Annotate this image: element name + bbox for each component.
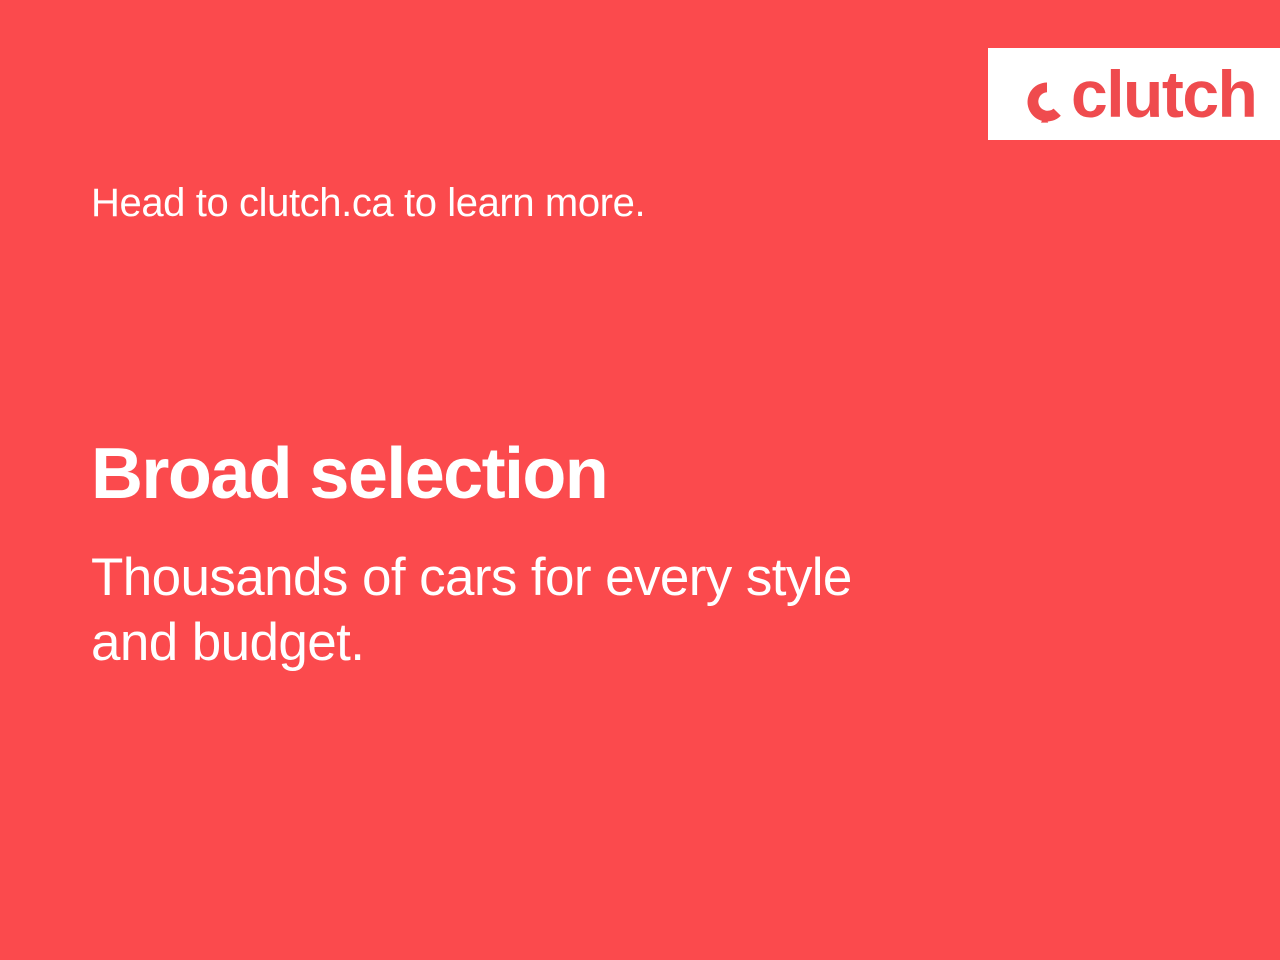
- subheadline-line-1: Thousands of cars for every style: [91, 546, 1051, 611]
- brand-logo-plate[interactable]: clutch: [988, 48, 1280, 140]
- clutch-c-mark-icon: [1024, 79, 1070, 125]
- brand-wordmark: clutch: [1071, 61, 1256, 127]
- subheadline-line-2: and budget.: [91, 611, 1051, 676]
- eyebrow-text: Head to clutch.ca to learn more.: [91, 180, 645, 226]
- subheadline: Thousands of cars for every style and bu…: [91, 546, 1051, 675]
- promo-slide: clutch Head to clutch.ca to learn more. …: [0, 0, 1280, 960]
- page-title: Broad selection: [91, 437, 607, 513]
- brand-lockup: clutch: [1024, 61, 1256, 127]
